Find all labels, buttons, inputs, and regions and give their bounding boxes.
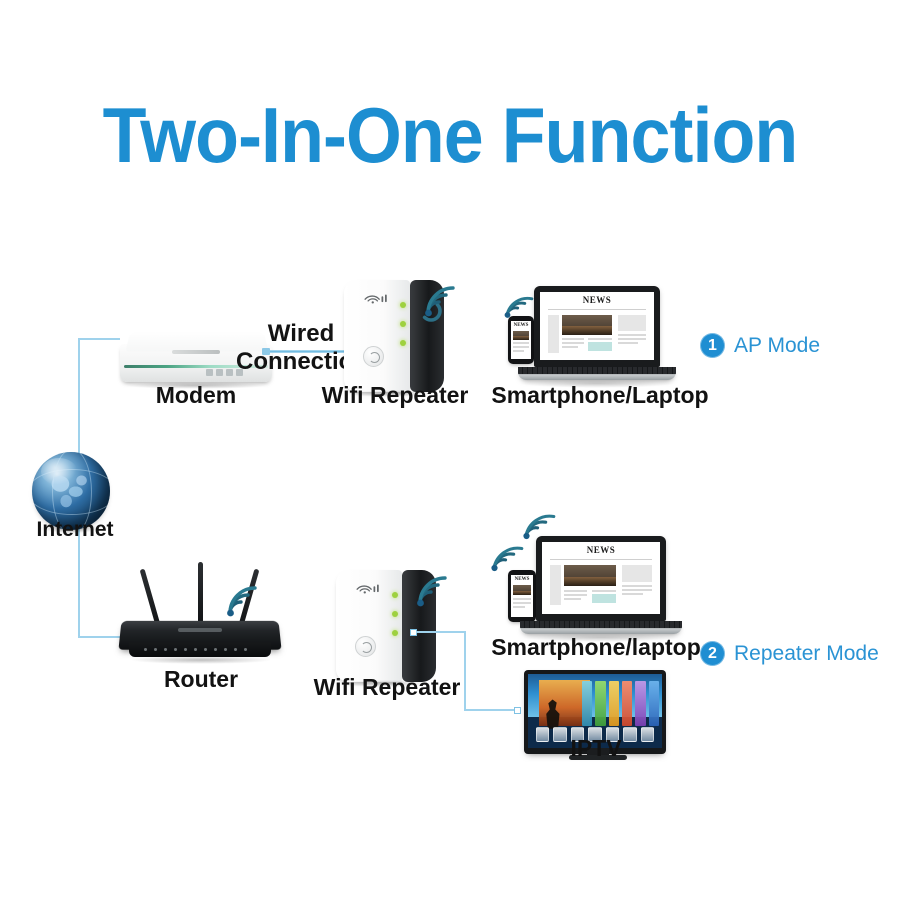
laptop-news-text [618,334,646,336]
smartphone-device-icon-ap: NEWS [508,316,534,366]
phone-news-text [513,602,531,604]
repeater-wps-button[interactable] [355,636,376,657]
repeater-mode-label: Repeater Mode [734,642,879,666]
connector-internet-to-router-horizontal [78,636,120,638]
phone-news-text [513,342,529,344]
tv-color-panels [582,681,660,725]
phone-body: NEWS [508,316,534,364]
laptop-news-masthead: NEWS [540,296,654,305]
smartphone-device-icon-rm: NEWS [508,570,536,624]
laptop-news-masthead: NEWS [542,546,660,555]
laptop-lid: NEWS [534,286,660,367]
page-title: Two-In-One Function [36,96,864,174]
phone-screen: NEWS [511,575,533,617]
wifi-signal-icon-client-ap [500,288,536,322]
laptop-news-rule [548,309,646,310]
laptop-news-text [622,585,652,587]
connector-internet-to-modem-vertical [78,338,80,462]
ap-mode-number: 1 [700,333,725,358]
router-antenna-center [198,562,203,624]
repeater-brand-logo [352,581,388,595]
ap-mode-badge[interactable]: 1 AP Mode [700,333,820,358]
phone-news-photo [513,331,529,340]
wifi-signal-icon-repeater-rm [412,568,456,612]
client-label-ap: Smartphone/Laptop [480,382,720,409]
laptop-news-text [592,590,616,592]
repeater-status-leds [400,302,406,346]
laptop-news-text [588,338,612,340]
laptop-screen: NEWS [542,542,660,614]
client-label-rm: Smartphone/laptop [478,634,714,661]
wifi-signal-icon-router [222,578,266,622]
iptv-label: IPTV [520,735,672,762]
infographic-canvas: Two-In-One Function Internet Modem Wired… [0,0,900,900]
globe-highlight [41,458,77,485]
repeater-label-ap: Wifi Repeater [284,382,506,409]
laptop-news-text [564,594,587,596]
connector-repeater-trunk [416,631,466,633]
wifi-signal-icon-repeater-ap [420,278,464,322]
phone-news-text [513,346,529,348]
phone-news-masthead: NEWS [511,577,533,582]
router-shadow [130,656,272,664]
laptop-keyboard [518,367,676,374]
phone-news-text [513,606,525,608]
laptop-news-text [622,589,652,591]
laptop-news-photo [564,565,616,586]
phone-news-photo [513,585,531,595]
laptop-news-accent [592,594,616,603]
connector-internet-to-modem-horizontal [78,338,120,340]
laptop-news-text [564,598,581,600]
phone-screen: NEWS [511,321,531,359]
internet-label: Internet [0,518,150,542]
laptop-news-column [618,315,646,331]
laptop-news-text [562,346,578,348]
modem-label: Modem [116,382,276,409]
repeater-wps-button[interactable] [363,346,384,367]
laptop-news-text [618,338,646,340]
modem-brand-mark [172,350,220,354]
laptop-news-column [622,565,652,582]
connector-repeater-split-vertical [464,631,466,711]
laptop-news-column [548,315,559,353]
router-label: Router [120,666,282,693]
laptop-device-icon-rm: NEWS [536,536,678,628]
laptop-news-text [562,338,584,340]
laptop-news-column [550,565,561,605]
repeater-mode-number: 2 [700,641,725,666]
router-status-leds [144,648,247,651]
laptop-news-text [622,593,643,595]
globe-landmass [46,471,94,515]
phone-body: NEWS [508,570,536,622]
laptop-screen: NEWS [540,292,654,360]
connector-node-iptv-in [514,707,521,714]
ap-mode-label: AP Mode [734,334,820,358]
laptop-news-photo [562,315,612,335]
phone-news-masthead: NEWS [511,323,531,328]
repeater-status-leds [392,592,398,636]
laptop-news-text [618,342,638,344]
connector-repeater-to-iptv [464,709,516,711]
laptop-news-text [564,590,587,592]
laptop-news-rule [550,559,652,560]
repeater-brand-logo [360,291,396,305]
laptop-news-text [562,342,584,344]
phone-news-text [513,598,531,600]
laptop-lid: NEWS [536,536,666,621]
laptop-device-icon-ap: NEWS [534,286,674,374]
laptop-news-accent [588,342,612,351]
repeater-mode-badge[interactable]: 2 Repeater Mode [700,641,879,666]
phone-news-text [513,350,524,352]
router-brand-mark [178,628,222,632]
laptop-keyboard [520,621,682,628]
